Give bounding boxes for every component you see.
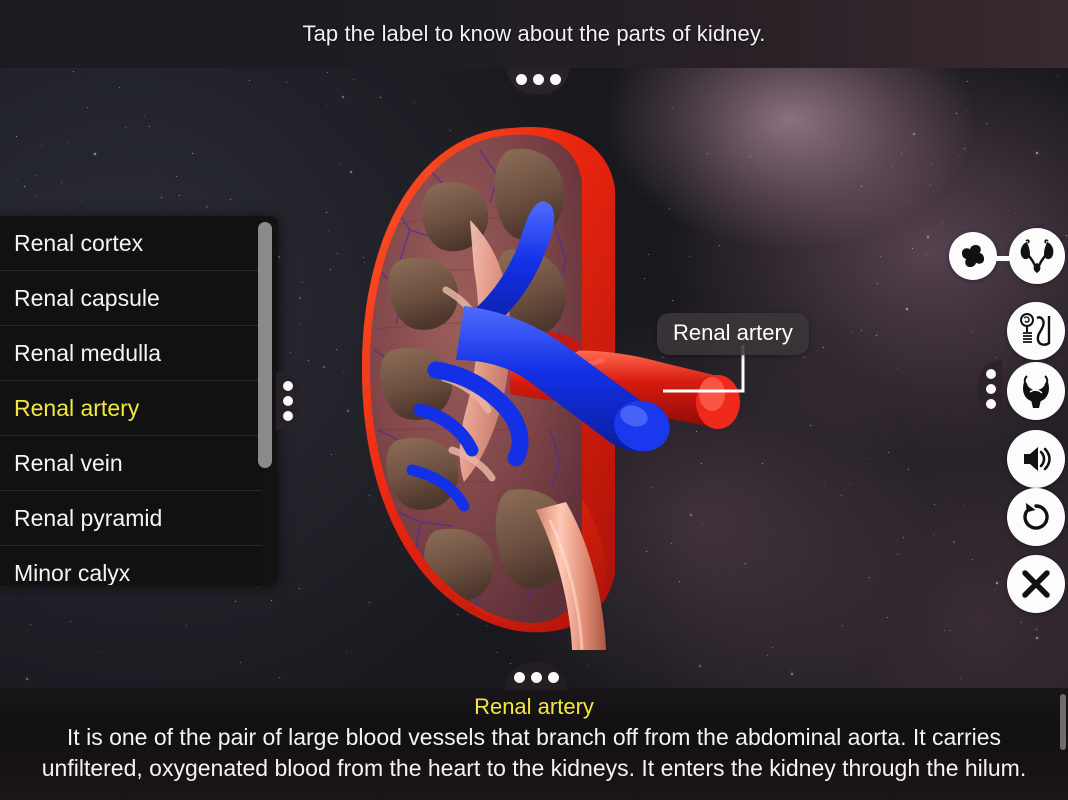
label-list-item-text: Renal pyramid xyxy=(14,505,162,532)
label-list-item-text: Minor calyx xyxy=(14,560,130,586)
description-scrollbar[interactable] xyxy=(1060,694,1066,794)
urinary-system-icon xyxy=(1017,236,1057,276)
tool-connector-line xyxy=(995,256,1013,261)
close-button[interactable] xyxy=(1007,555,1065,613)
handle-dot xyxy=(531,672,542,683)
label-list-scrollbar[interactable] xyxy=(258,222,272,579)
cells-icon xyxy=(957,240,989,272)
handle-dot xyxy=(514,672,525,683)
label-list-panel[interactable]: Renal cortexRenal capsuleRenal medullaRe… xyxy=(0,216,278,585)
instruction-bar: Tap the label to know about the parts of… xyxy=(0,0,1068,68)
handle-dot xyxy=(986,369,996,379)
model-callout-label[interactable]: Renal artery xyxy=(657,313,809,355)
label-list[interactable]: Renal cortexRenal capsuleRenal medullaRe… xyxy=(0,216,262,585)
reset-button[interactable] xyxy=(1007,488,1065,546)
cells-pinwheel-button[interactable] xyxy=(949,232,997,280)
description-panel[interactable]: Renal artery It is one of the pair of la… xyxy=(0,688,1068,800)
label-list-item-text: Renal vein xyxy=(14,450,123,477)
handle-dot xyxy=(283,411,293,421)
label-list-item[interactable]: Renal medulla xyxy=(0,326,262,381)
handle-dot xyxy=(986,399,996,409)
handle-dot xyxy=(548,672,559,683)
description-scroll-thumb[interactable] xyxy=(1060,694,1066,750)
handle-dot xyxy=(283,396,293,406)
label-list-item-text: Renal cortex xyxy=(14,230,143,257)
label-list-item[interactable]: Minor calyx xyxy=(0,546,262,585)
glomerulus-button[interactable] xyxy=(1007,362,1065,420)
label-list-item[interactable]: Renal cortex xyxy=(0,216,262,271)
rotate-ccw-icon xyxy=(1018,499,1054,535)
instruction-text: Tap the label to know about the parts of… xyxy=(302,21,765,47)
handle-dot xyxy=(533,74,544,85)
handle-dot xyxy=(986,384,996,394)
label-list-item[interactable]: Renal capsule xyxy=(0,271,262,326)
description-title: Renal artery xyxy=(0,692,1068,722)
nephron-button[interactable] xyxy=(1007,302,1065,360)
drag-handle-right[interactable] xyxy=(978,360,1002,418)
label-list-item-text: Renal medulla xyxy=(14,340,161,367)
label-list-item-text: Renal capsule xyxy=(14,285,160,312)
close-x-icon xyxy=(1019,567,1053,601)
nephron-icon xyxy=(1015,310,1057,352)
drag-handle-top[interactable] xyxy=(507,68,569,94)
handle-dot xyxy=(550,74,561,85)
label-list-item[interactable]: Renal vein xyxy=(0,436,262,491)
audio-button[interactable] xyxy=(1007,430,1065,488)
drag-handle-bottom[interactable] xyxy=(505,662,567,690)
label-list-item[interactable]: Renal artery xyxy=(0,381,262,436)
label-list-scroll-thumb[interactable] xyxy=(258,222,272,468)
drag-handle-left[interactable] xyxy=(276,372,302,430)
speaker-icon xyxy=(1018,441,1054,477)
label-list-item-text: Renal artery xyxy=(14,395,139,422)
app-root: Renal artery Tap the label to know about… xyxy=(0,0,1068,800)
urinary-system-button[interactable] xyxy=(1009,228,1065,284)
glomerulus-icon xyxy=(1015,370,1057,412)
description-body: It is one of the pair of large blood ves… xyxy=(0,722,1068,784)
handle-dot xyxy=(516,74,527,85)
handle-dot xyxy=(283,381,293,391)
label-list-item[interactable]: Renal pyramid xyxy=(0,491,262,546)
